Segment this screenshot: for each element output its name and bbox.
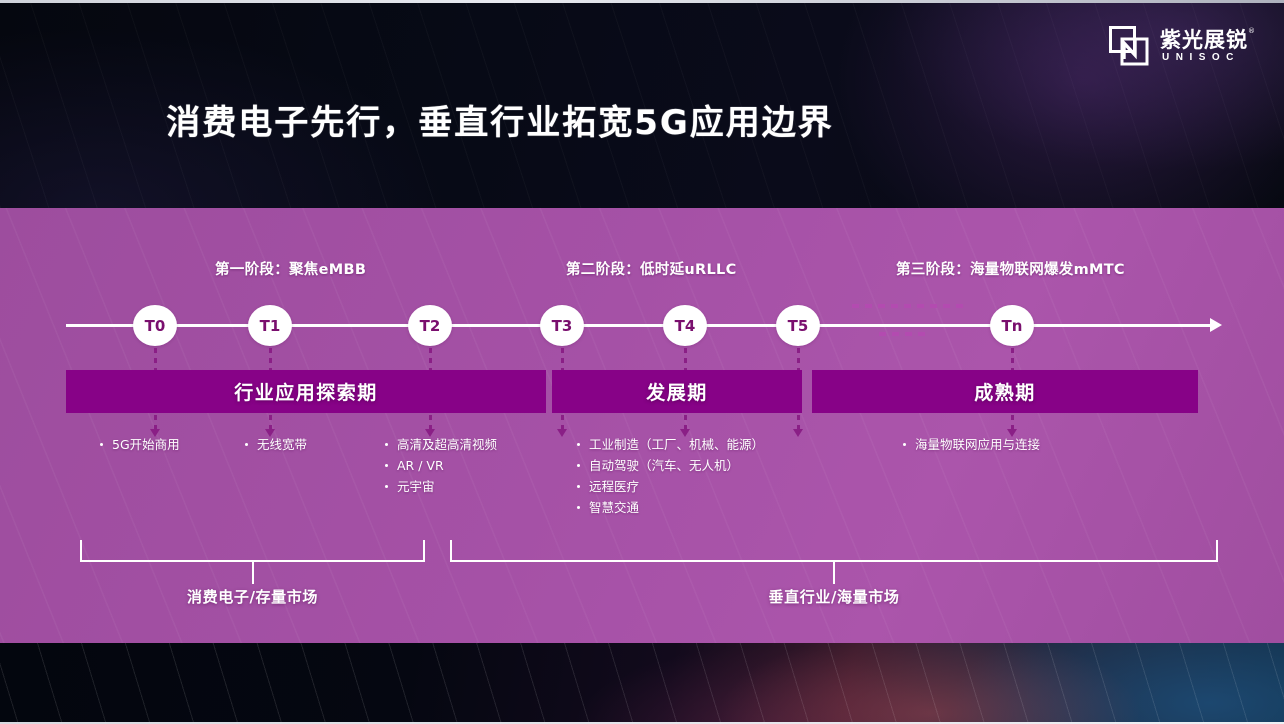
stage-bar-exploration[interactable]: 行业应用探索期 (66, 370, 546, 413)
bracket-consumer-electronics (80, 540, 425, 564)
bullet-dot-icon (100, 443, 103, 446)
bullet-column-2: 无线宽带 (245, 434, 307, 455)
bullet-column-3: 高清及超高清视频 AR / VR 元宇宙 (385, 434, 497, 497)
list-item: 远程医疗 (577, 476, 764, 497)
connector-tn-top (1011, 348, 1014, 370)
connector-t3-top (561, 348, 564, 370)
bullet-dot-icon (577, 464, 580, 467)
bracket-stem (252, 562, 254, 584)
timeline-decor-dash-2 (879, 332, 931, 336)
bullet-column-4: 工业制造（工厂、机械、能源） 自动驾驶（汽车、无人机） 远程医疗 智慧交通 (577, 434, 764, 518)
connector-t1-top (269, 348, 272, 370)
bullet-text: 工业制造（工厂、机械、能源） (589, 434, 764, 455)
bullet-dot-icon (577, 443, 580, 446)
brand-name-cn-text: 紫光展锐 (1160, 28, 1248, 52)
bullet-column-1: 5G开始商用 (100, 434, 180, 455)
bracket-right-arm (1216, 540, 1218, 562)
timeline-node-t0[interactable]: T0 (133, 305, 177, 346)
list-item: 无线宽带 (245, 434, 307, 455)
list-item: 5G开始商用 (100, 434, 180, 455)
connector-t4-bottom (684, 415, 687, 429)
bullet-dot-icon (577, 506, 580, 509)
timeline-node-t2[interactable]: T2 (408, 305, 452, 346)
slide-root: 紫光展锐® UNISOC 消费电子先行，垂直行业拓宽5G应用边界 第一阶段：聚焦… (0, 0, 1284, 724)
timeline-node-t5[interactable]: T5 (776, 305, 820, 346)
bracket-label-vertical-industry: 垂直行业/海量市场 (450, 586, 1218, 607)
brand-logo: 紫光展锐® UNISOC (1109, 26, 1248, 66)
bullet-dot-icon (903, 443, 906, 446)
bullet-text: 元宇宙 (397, 476, 435, 497)
list-item: 高清及超高清视频 (385, 434, 497, 455)
stage-bar-maturity[interactable]: 成熟期 (812, 370, 1198, 413)
connector-t5-bottom (797, 415, 800, 429)
slide-header: 紫光展锐® UNISOC 消费电子先行，垂直行业拓宽5G应用边界 (0, 0, 1284, 208)
connector-t5-top (797, 348, 800, 370)
timeline-axis (66, 324, 1216, 327)
unisoc-logo-mark-icon (1109, 26, 1149, 66)
timeline-node-t3[interactable]: T3 (540, 305, 584, 346)
connector-t1-bottom (269, 415, 272, 429)
list-item: 工业制造（工厂、机械、能源） (577, 434, 764, 455)
brand-name-en: UNISOC (1160, 53, 1248, 63)
bullet-dot-icon (577, 485, 580, 488)
list-item: 自动驾驶（汽车、无人机） (577, 455, 764, 476)
phase-label-3: 第三阶段：海量物联网爆发mMTC (896, 258, 1125, 279)
connector-t3-bottom (561, 415, 564, 429)
registered-mark: ® (1248, 28, 1256, 35)
connector-t2-top (429, 348, 432, 370)
bullet-column-5: 海量物联网应用与连接 (903, 434, 1040, 455)
bullet-dot-icon (385, 464, 388, 467)
bullet-text: 高清及超高清视频 (397, 434, 497, 455)
bracket-left-arm (450, 540, 452, 562)
timeline-body: 第一阶段：聚焦eMBB 第二阶段：低时延uRLLC 第三阶段：海量物联网爆发mM… (0, 208, 1284, 643)
list-item: AR / VR (385, 455, 497, 476)
timeline-node-t4[interactable]: T4 (663, 305, 707, 346)
bullet-dot-icon (385, 485, 388, 488)
bullet-text: 海量物联网应用与连接 (915, 434, 1040, 455)
bullet-dot-icon (245, 443, 248, 446)
timeline-node-tn[interactable]: Tn (990, 305, 1034, 346)
timeline-axis-arrow-icon (1210, 318, 1222, 332)
bracket-label-consumer-electronics: 消费电子/存量市场 (80, 586, 425, 607)
timeline-decor-dash-1 (852, 304, 964, 308)
bracket-left-arm (80, 540, 82, 562)
phase-label-1: 第一阶段：聚焦eMBB (215, 258, 366, 279)
brand-logo-text: 紫光展锐® UNISOC (1160, 30, 1248, 63)
bracket-stem (833, 562, 835, 584)
bullet-text: 自动驾驶（汽车、无人机） (589, 455, 739, 476)
brand-name-cn: 紫光展锐® (1160, 30, 1248, 51)
connector-t4-top (684, 348, 687, 370)
connector-t0-top (154, 348, 157, 370)
timeline-node-t1[interactable]: T1 (248, 305, 292, 346)
connector-t0-bottom (154, 415, 157, 429)
stage-bar-development[interactable]: 发展期 (552, 370, 802, 413)
connector-t2-bottom (429, 415, 432, 429)
connector-tn-bottom (1011, 415, 1014, 429)
bullet-text: AR / VR (397, 455, 444, 476)
bullet-text: 远程医疗 (589, 476, 639, 497)
bracket-vertical-industry (450, 540, 1218, 564)
bullet-text: 5G开始商用 (112, 434, 180, 455)
list-item: 元宇宙 (385, 476, 497, 497)
phase-label-2: 第二阶段：低时延uRLLC (566, 258, 737, 279)
list-item: 海量物联网应用与连接 (903, 434, 1040, 455)
header-top-rule (0, 0, 1284, 3)
page-title: 消费电子先行，垂直行业拓宽5G应用边界 (0, 95, 1000, 144)
list-item: 智慧交通 (577, 497, 764, 518)
bullet-text: 智慧交通 (589, 497, 639, 518)
bullet-dot-icon (385, 443, 388, 446)
bullet-text: 无线宽带 (257, 434, 307, 455)
bracket-right-arm (423, 540, 425, 562)
slide-footer-band (0, 643, 1284, 724)
